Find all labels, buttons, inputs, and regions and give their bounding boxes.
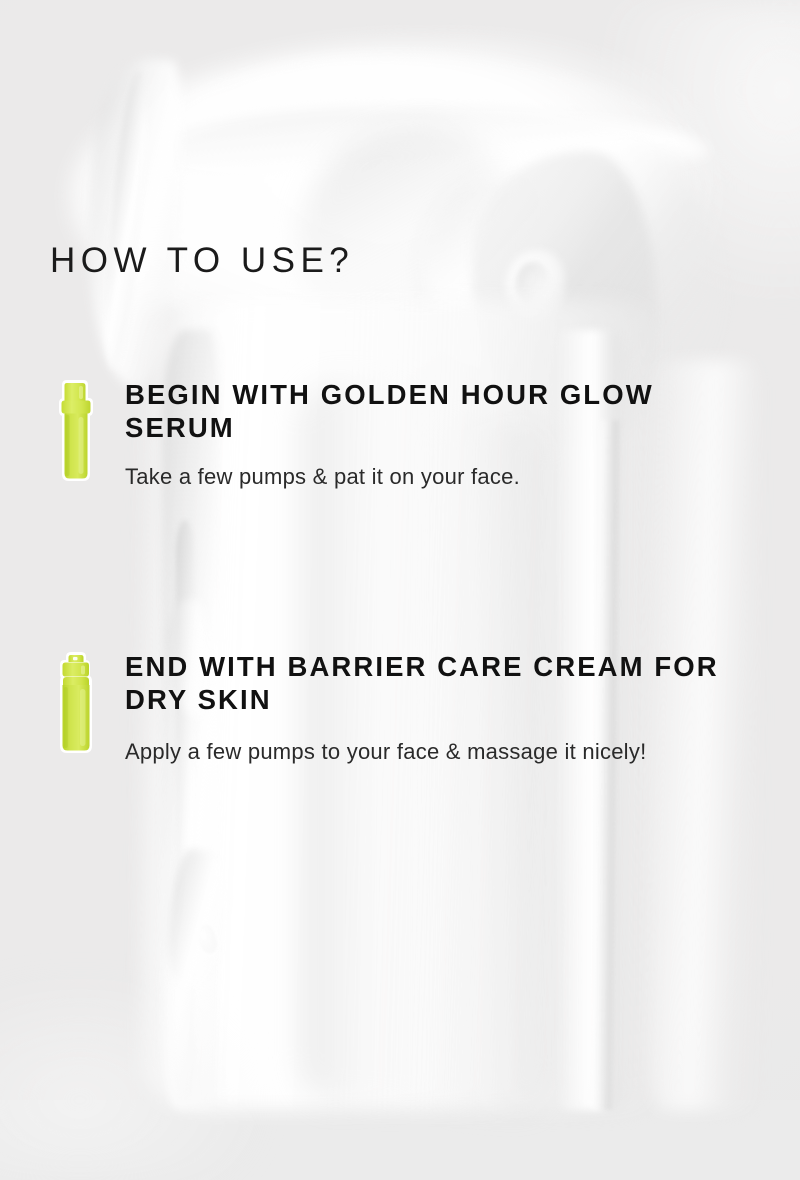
how-to-use-panel: HOW TO USE? [0, 0, 800, 1100]
step-item: BEGIN WITH GOLDEN HOUR GLOW SERUM Take a… [50, 378, 770, 491]
step-title: BEGIN WITH GOLDEN HOUR GLOW SERUM [125, 378, 770, 444]
step-text-block: END WITH BARRIER CARE CREAM FOR DRY SKIN… [125, 650, 770, 766]
pump-bottle-icon [50, 378, 102, 484]
step-text-block: BEGIN WITH GOLDEN HOUR GLOW SERUM Take a… [125, 378, 770, 491]
page-title: HOW TO USE? [50, 243, 354, 278]
step-description: Apply a few pumps to your face & massage… [125, 738, 685, 766]
step-title: END WITH BARRIER CARE CREAM FOR DRY SKIN [125, 650, 770, 716]
cream-tube-icon [50, 650, 102, 756]
step-item: END WITH BARRIER CARE CREAM FOR DRY SKIN… [50, 650, 770, 766]
step-description: Take a few pumps & pat it on your face. [125, 463, 685, 491]
